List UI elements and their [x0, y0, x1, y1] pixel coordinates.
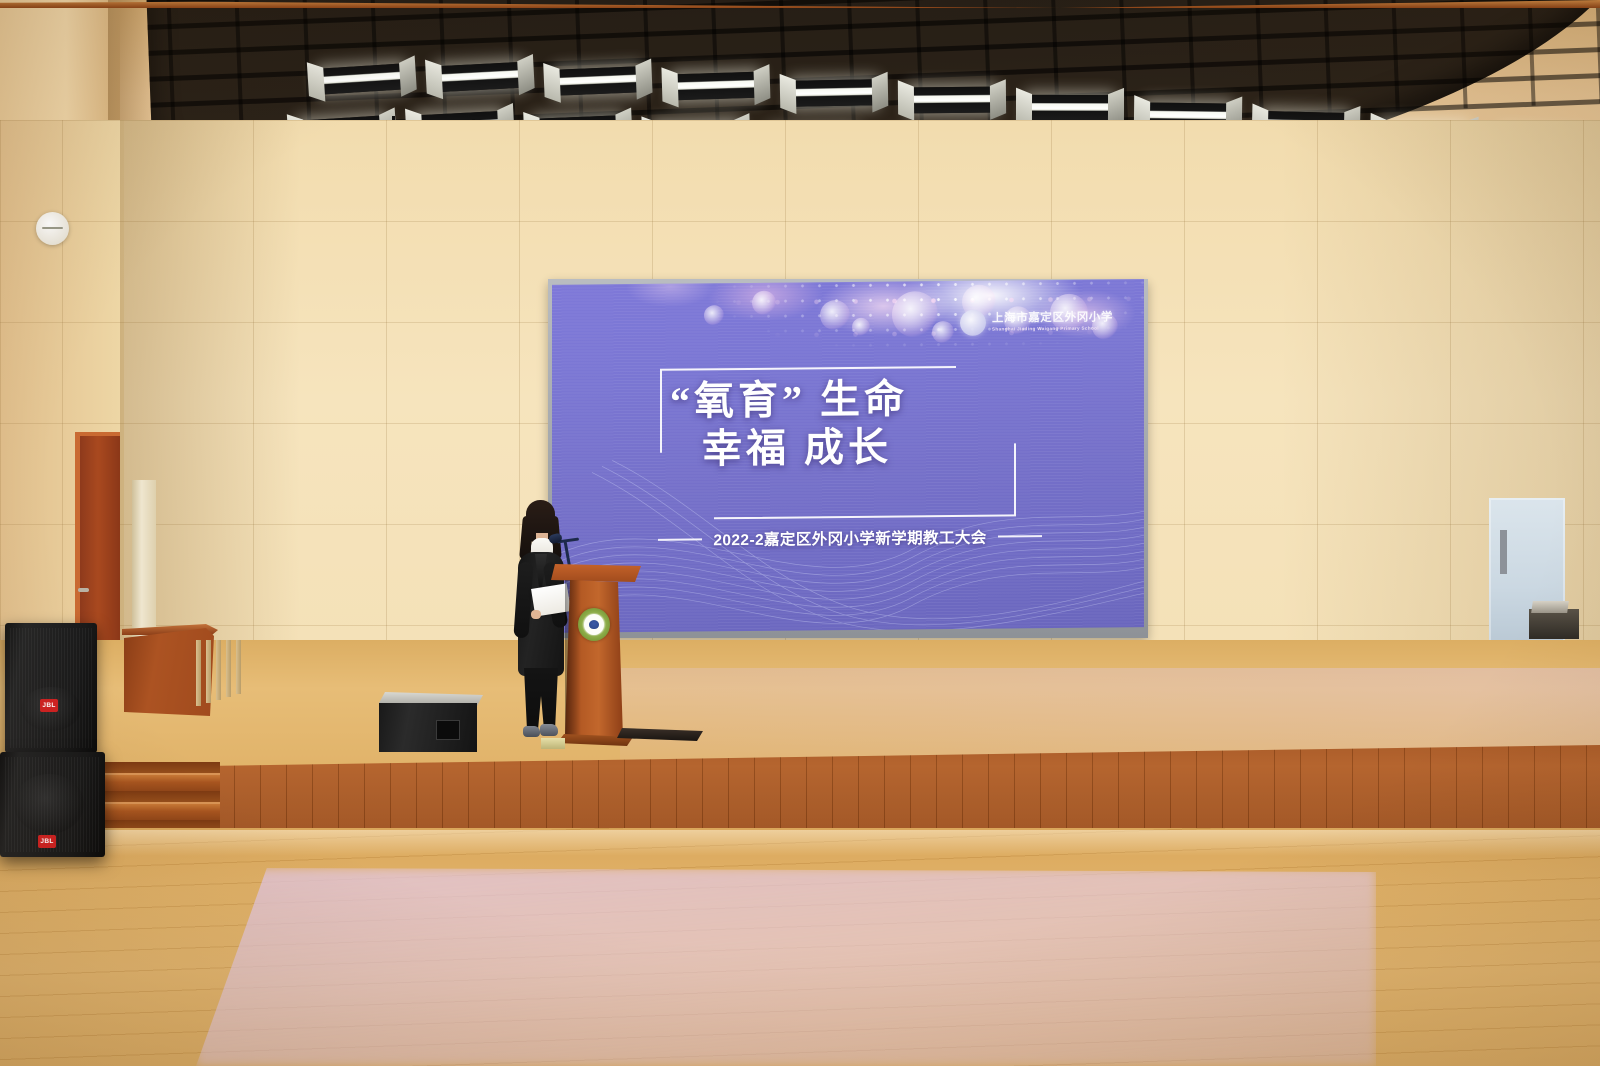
ceiling-grid-strut — [1185, 0, 1196, 119]
monitor-body — [379, 703, 477, 752]
podium-shading — [565, 580, 581, 738]
auditorium-scene: 上海市嘉定区外冈小学 Shanghai Jiading Waigang Prim… — [0, 0, 1600, 1066]
slide-title-line1: “氧育” 生命 — [670, 378, 1010, 422]
balustrade-spindle — [236, 640, 241, 694]
ceiling-grid-strut — [710, 0, 721, 137]
batten-barn-door-left — [543, 63, 561, 103]
ceiling-grid-strut — [846, 0, 857, 132]
presenter-hand — [531, 610, 541, 619]
side-door[interactable] — [75, 432, 120, 644]
school-emblem — [578, 608, 610, 641]
bokeh-light-blob — [752, 291, 776, 315]
jbl-main-speaker: JBL — [5, 623, 97, 753]
booth-equipment — [1529, 609, 1579, 639]
emblem-figure-icon — [589, 620, 599, 629]
screen-reflection-on-floor — [196, 868, 1376, 1066]
jbl-badge-text-sub: JBL — [40, 838, 53, 845]
fluorescent-batten-light — [556, 66, 641, 95]
cable-weight-block — [541, 738, 565, 749]
jbl-logo-badge-sub: JBL — [38, 835, 56, 848]
batten-barn-door-left — [661, 68, 678, 108]
balustrade-spindle — [216, 640, 221, 700]
balustrade-spindle — [206, 640, 211, 703]
step-tread[interactable] — [104, 802, 220, 822]
booth-equipment-lid — [1531, 601, 1569, 613]
batten-barn-door-right — [517, 54, 534, 95]
fluorescent-batten-light — [674, 72, 759, 101]
bokeh-light-blob — [704, 305, 724, 325]
ceiling-grid-strut — [1253, 0, 1264, 116]
wall-clock — [36, 212, 69, 245]
batten-barn-door-right — [872, 72, 889, 113]
balustrade-spindle — [196, 640, 201, 706]
batten-barn-door-left — [780, 74, 797, 114]
batten-barn-door-right — [399, 55, 417, 96]
fluorescent-batten-light — [319, 63, 404, 94]
bokeh-light-blob — [820, 300, 850, 330]
stage-monitor-speaker — [379, 692, 483, 752]
ceiling-grid-beam — [149, 0, 1600, 56]
fluorescent-batten-light — [437, 61, 522, 91]
batten-barn-door-left — [307, 62, 326, 101]
clock-hands — [42, 227, 63, 229]
balustrade-spindle — [226, 640, 231, 697]
fluorescent-batten-light — [1028, 95, 1112, 121]
slide-subtitle-row: 2022-2嘉定区外冈小学新学期教工大会 — [650, 525, 1050, 551]
jbl-badge-text: JBL — [42, 702, 55, 709]
slide-subtitle: 2022-2嘉定区外冈小学新学期教工大会 — [713, 526, 986, 551]
ceiling-grid-strut — [778, 0, 789, 134]
subwoofer-cone — [14, 774, 84, 834]
monitor-connector-plate — [436, 720, 460, 740]
door-handle-icon[interactable] — [78, 588, 89, 592]
subtitle-rule-right — [998, 535, 1042, 537]
batten-barn-door-left — [425, 59, 443, 99]
fluorescent-batten-light — [910, 87, 994, 114]
presenter-left-shoe — [523, 726, 540, 737]
bokeh-light-blob — [852, 318, 870, 336]
slide-logo-cn: 上海市嘉定区外冈小学 — [992, 312, 1113, 325]
batten-barn-door-left — [898, 80, 914, 120]
bokeh-light-blob — [932, 321, 954, 343]
batten-barn-door-right — [635, 58, 652, 99]
floor-gloss-highlight — [0, 830, 1600, 856]
batten-barn-door-right — [990, 79, 1006, 120]
slide-school-logo: 上海市嘉定区外冈小学 Shanghai Jiading Waigang Prim… — [960, 303, 1120, 341]
step-tread[interactable] — [104, 773, 220, 793]
jbl-logo-badge: JBL — [40, 699, 58, 712]
school-crest-icon — [960, 310, 986, 336]
jbl-subwoofer: JBL — [0, 752, 105, 857]
fluorescent-batten-light — [792, 79, 876, 107]
podium — [551, 564, 641, 748]
booth-window-mullion — [1500, 530, 1507, 574]
subtitle-rule-left — [658, 538, 702, 540]
slide-logo-en: Shanghai Jiading Waigang Primary School — [992, 326, 1113, 332]
